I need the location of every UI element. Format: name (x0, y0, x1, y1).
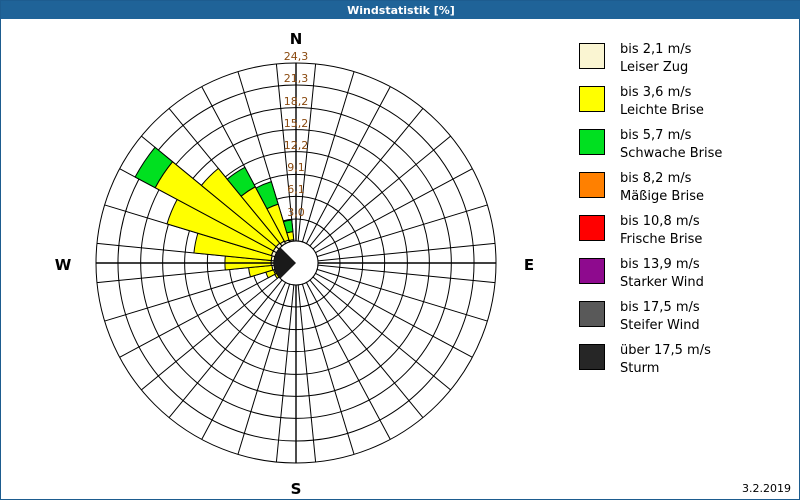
legend-item-name: Steifer Wind (620, 317, 700, 335)
legend-item-speed: bis 3,6 m/s (620, 84, 704, 102)
legend-swatch-icon (579, 258, 605, 284)
legend-item[interactable]: bis 3,6 m/sLeichte Brise (579, 84, 795, 120)
legend-item-text: bis 17,5 m/sSteifer Wind (620, 299, 700, 335)
legend-item-name: Mäßige Brise (620, 188, 704, 206)
compass-label-south: S (276, 480, 316, 498)
legend-item[interactable]: über 17,5 m/sSturm (579, 342, 795, 378)
legend-item-speed: bis 10,8 m/s (620, 213, 702, 231)
compass-label-west: W (43, 256, 83, 274)
legend-swatch-icon (579, 215, 605, 241)
legend-item-text: bis 8,2 m/sMäßige Brise (620, 170, 704, 206)
wind-rose-svg (1, 20, 561, 500)
legend-item[interactable]: bis 17,5 m/sSteifer Wind (579, 299, 795, 335)
legend-item-name: Leichte Brise (620, 102, 704, 120)
compass-label-north: N (276, 30, 316, 48)
radial-tick-label: 24,3 (274, 50, 318, 63)
legend-swatch-icon (579, 43, 605, 69)
center-hole (274, 241, 318, 285)
legend-item-speed: bis 5,7 m/s (620, 127, 722, 145)
legend-item-speed: bis 8,2 m/s (620, 170, 704, 188)
radial-tick-label: 9,1 (274, 161, 318, 174)
legend-item-name: Schwache Brise (620, 145, 722, 163)
legend: bis 2,1 m/sLeiser Zugbis 3,6 m/sLeichte … (579, 41, 795, 385)
legend-item[interactable]: bis 8,2 m/sMäßige Brise (579, 170, 795, 206)
grid-spoke (317, 205, 487, 257)
radial-tick-label: 12,2 (274, 139, 318, 152)
radial-tick-label: 18,2 (274, 95, 318, 108)
wind-rose-chart: N E S W 3,06,19,112,215,218,221,324,3 (1, 20, 561, 500)
radial-tick-label: 21,3 (274, 72, 318, 85)
legend-item-speed: bis 2,1 m/s (620, 41, 691, 59)
legend-swatch-icon (579, 301, 605, 327)
legend-item[interactable]: bis 10,8 m/sFrische Brise (579, 213, 795, 249)
legend-item-name: Leiser Zug (620, 59, 691, 77)
wind-rose-petals (135, 147, 294, 278)
legend-item-text: bis 13,9 m/sStarker Wind (620, 256, 704, 292)
window-title: Windstatistik [%] (347, 4, 455, 17)
legend-item-name: Sturm (620, 360, 711, 378)
windrose-window: Windstatistik [%] N E S W 3,06,19,112,21… (0, 0, 800, 500)
radial-tick-label: 3,0 (274, 206, 318, 219)
footer-date: 3.2.2019 (742, 482, 791, 495)
radial-tick-label: 6,1 (274, 183, 318, 196)
legend-item-speed: bis 17,5 m/s (620, 299, 700, 317)
legend-item-text: bis 2,1 m/sLeiser Zug (620, 41, 691, 77)
legend-item[interactable]: bis 5,7 m/sSchwache Brise (579, 127, 795, 163)
legend-swatch-icon (579, 344, 605, 370)
legend-item-name: Frische Brise (620, 231, 702, 249)
radial-tick-label: 15,2 (274, 117, 318, 130)
window-title-bar: Windstatistik [%] (1, 1, 800, 19)
grid-spoke (302, 284, 354, 454)
legend-item-text: über 17,5 m/sSturm (620, 342, 711, 378)
legend-item[interactable]: bis 13,9 m/sStarker Wind (579, 256, 795, 292)
legend-item[interactable]: bis 2,1 m/sLeiser Zug (579, 41, 795, 77)
legend-item-speed: bis 13,9 m/s (620, 256, 704, 274)
legend-swatch-icon (579, 172, 605, 198)
legend-swatch-icon (579, 129, 605, 155)
legend-item-name: Starker Wind (620, 274, 704, 292)
grid-spoke (317, 269, 487, 321)
legend-swatch-icon (579, 86, 605, 112)
compass-label-east: E (509, 256, 549, 274)
legend-item-speed: über 17,5 m/s (620, 342, 711, 360)
grid-spoke (238, 284, 290, 454)
grid-spoke (105, 269, 275, 321)
legend-item-text: bis 5,7 m/sSchwache Brise (620, 127, 722, 163)
legend-item-text: bis 3,6 m/sLeichte Brise (620, 84, 704, 120)
legend-item-text: bis 10,8 m/sFrische Brise (620, 213, 702, 249)
